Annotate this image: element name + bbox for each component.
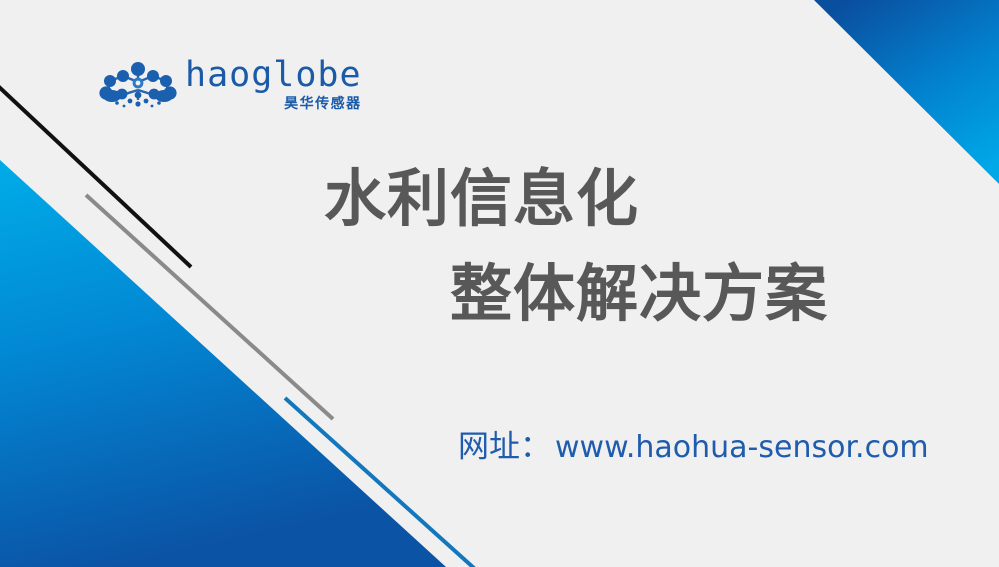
top-right-blue-triangle: [814, 0, 999, 184]
slide-title: 水利信息化 整体解决方案: [0, 168, 999, 325]
company-logo: haoglobe 昊华传感器: [97, 58, 362, 111]
network-dots-icon: [97, 59, 179, 111]
logo-wordmark: haoglobe: [185, 58, 362, 92]
logo-text-block: haoglobe 昊华传感器: [185, 58, 362, 111]
title-line-2: 整体解决方案: [450, 263, 999, 325]
website-label: 网址：: [458, 421, 551, 466]
logo-chinese-name: 昊华传感器: [284, 97, 362, 111]
website-url[interactable]: www.haohua-sensor.com: [555, 430, 929, 465]
title-line-1: 水利信息化: [324, 168, 999, 230]
presentation-slide: haoglobe 昊华传感器 水利信息化 整体解决方案 网址： www.haoh…: [0, 0, 999, 567]
website-line: 网址： www.haohua-sensor.com: [458, 421, 929, 466]
